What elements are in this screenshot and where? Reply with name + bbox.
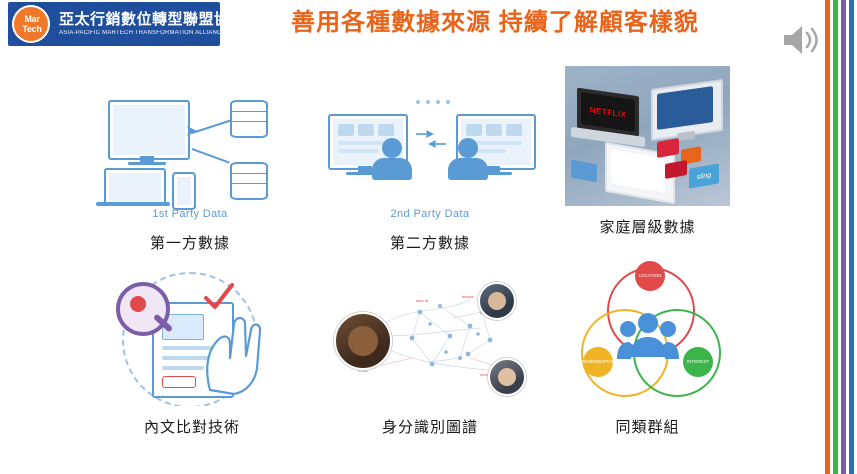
card-caption-household: 家庭層級數據 (565, 218, 730, 238)
logo-title-en: ASIA-PACIFIC MARTECH TRANSFORMATION ALLI… (59, 29, 220, 38)
card-caption-look-alike: 同類群組 (565, 418, 730, 438)
logo-mark-line1: Mar (24, 14, 39, 24)
content-matching-illustration (82, 266, 302, 406)
second-party-data-illustration: 2nd Party Data (320, 76, 540, 222)
slide-canvas: Mar Tech 亞太行銷數位轉型聯盟協會 ASIA-PACIFIC MARTE… (0, 0, 857, 474)
card-second-party-data: 2nd Party Data 第二方數據 (320, 76, 540, 254)
card-caption-second-party: 第二方數據 (320, 234, 540, 254)
first-party-data-illustration: 1st Party Data (80, 76, 300, 222)
logo-mark-icon: Mar Tech (8, 2, 56, 46)
card-content-matching: 內文比對技術 (82, 266, 302, 438)
database-icon-bottom (230, 162, 268, 200)
arrow-head-icon (185, 124, 199, 138)
person-left-icon (382, 138, 402, 158)
card-identity-graph: user id device email cookie (320, 266, 540, 438)
laptop-icon (104, 168, 166, 206)
card-caption-identity-graph: 身分識別圖譜 (320, 418, 540, 438)
card-caption-content-matching: 內文比對技術 (82, 418, 302, 438)
badge-location: LOCATION (635, 261, 665, 291)
badge-demographic: DEMOGRAPHIC (583, 347, 613, 377)
right-edge-color-bars (821, 0, 857, 474)
phone-icon (172, 172, 196, 210)
hand-icon (202, 310, 266, 396)
card-first-party-data: 1st Party Data 第一方數據 (80, 76, 300, 254)
monitor-icon (108, 100, 190, 160)
person-right-icon (458, 138, 478, 158)
household-devices-photo: NETFLIX sling (565, 66, 730, 206)
people-group-icon (617, 309, 679, 363)
look-alike-venn-illustration: LOCATION DEMOGRAPHIC INTEREST (565, 261, 730, 406)
logo-title-zh: 亞太行銷數位轉型聯盟協會 (59, 11, 220, 29)
card-household-data: NETFLIX sling 家庭層級數據 (565, 66, 730, 238)
badge-interest: INTEREST (683, 347, 713, 377)
exchange-arrows-icon (414, 128, 448, 150)
badge-location-label: LOCATION (639, 272, 662, 280)
data-source-grid: 1st Party Data 第一方數據 (20, 56, 800, 456)
netflix-label: NETFLIX (590, 105, 627, 119)
avatar-secondary-2 (488, 358, 526, 396)
badge-demographic-label: DEMOGRAPHIC (581, 358, 615, 366)
card-caption-first-party: 第一方數據 (80, 234, 300, 254)
database-icon-top (230, 100, 268, 138)
second-party-data-label: 2nd Party Data (320, 208, 540, 220)
association-logo: Mar Tech 亞太行銷數位轉型聯盟協會 ASIA-PACIFIC MARTE… (8, 2, 220, 46)
first-party-data-label: 1st Party Data (80, 208, 300, 220)
check-icon (202, 280, 236, 314)
identity-graph-illustration: user id device email cookie (320, 266, 540, 406)
logo-mark-line2: Tech (22, 24, 41, 34)
card-look-alike: LOCATION DEMOGRAPHIC INTEREST 同類群組 (565, 261, 730, 438)
badge-interest-label: INTEREST (687, 358, 709, 366)
avatar-secondary-1 (478, 282, 516, 320)
avatar-main (334, 312, 392, 370)
page-title: 善用各種數據來源 持續了解顧客樣貌 (230, 8, 760, 38)
svg-text:user id: user id (416, 298, 428, 303)
svg-text:device: device (462, 294, 474, 299)
